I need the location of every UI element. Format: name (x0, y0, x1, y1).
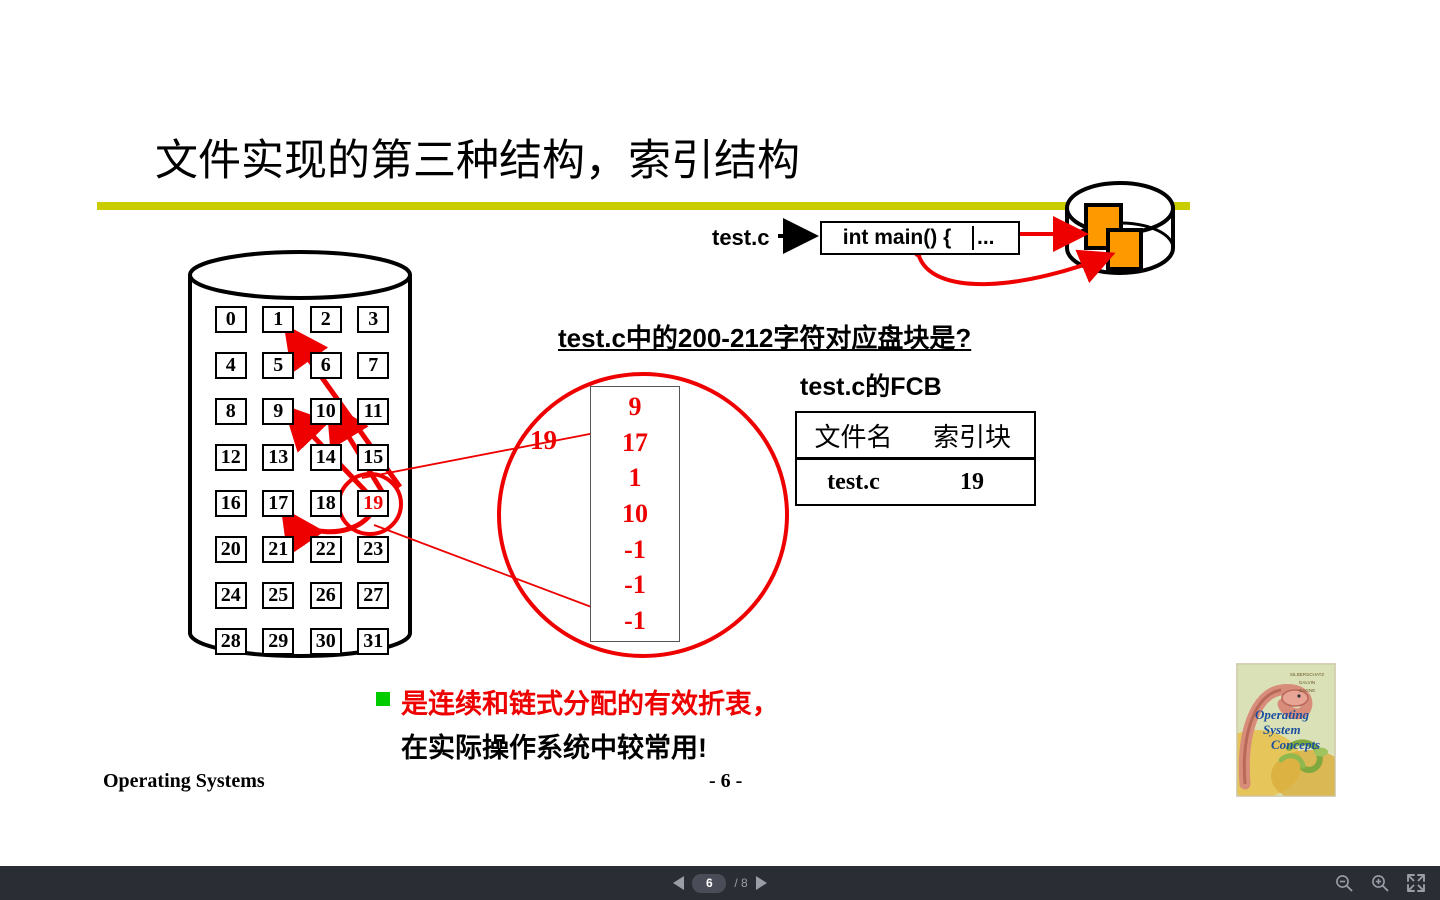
conclusion-line-2: 在实际操作系统中较常用! (401, 726, 707, 765)
footer-course-name: Operating Systems (103, 770, 265, 793)
zoom-in-icon[interactable] (1370, 873, 1390, 893)
title-divider-rule (97, 202, 1190, 210)
svg-text:GAGNE: GAGNE (1299, 688, 1316, 693)
disk-block-grid: 0 1 2 3 4 5 6 7 8 9 10 11 12 13 14 15 16… (207, 306, 397, 655)
file-code-text: int main() { (822, 226, 972, 250)
page-total-label: / 8 (734, 876, 747, 890)
disk-block[interactable]: 9 (262, 398, 294, 425)
disk-block[interactable]: 12 (215, 444, 247, 471)
file-code-ellipsis: ... (972, 226, 1018, 250)
fcb-table: 文件名 索引块 test.c 19 (795, 411, 1036, 506)
current-page-input[interactable]: 6 (692, 874, 726, 893)
next-page-icon[interactable] (756, 876, 767, 890)
disk-block[interactable]: 10 (310, 398, 342, 425)
svg-text:Concepts: Concepts (1271, 737, 1320, 752)
zoom-out-icon[interactable] (1334, 873, 1354, 893)
page-title: 文件实现的第三种结构，索引结构 (155, 126, 800, 188)
file-name-label: test.c (712, 225, 769, 251)
fcb-cell-indexblock: 19 (910, 469, 1034, 496)
index-block-table: 9 17 1 10 -1 -1 -1 (590, 386, 680, 642)
disk-block[interactable]: 22 (310, 536, 342, 563)
index-entry: 9 (629, 394, 642, 420)
disk-block[interactable]: 20 (215, 536, 247, 563)
disk-cylinder-small (1067, 183, 1173, 273)
disk-block[interactable]: 26 (310, 582, 342, 609)
svg-text:GALVIN: GALVIN (1299, 680, 1316, 685)
disk-block[interactable]: 30 (310, 628, 342, 655)
disk-block[interactable]: 2 (310, 306, 342, 333)
disk-block[interactable]: 17 (262, 490, 294, 517)
disk-block[interactable]: 5 (262, 352, 294, 379)
disk-block[interactable]: 7 (357, 352, 389, 379)
disk-block[interactable]: 25 (262, 582, 294, 609)
disk-sector-block-b (1108, 230, 1141, 269)
svg-text:Operating: Operating (1255, 707, 1310, 722)
disk-block[interactable]: 13 (262, 444, 294, 471)
disk-block[interactable]: 27 (357, 582, 389, 609)
disk-block[interactable]: 1 (262, 306, 294, 333)
disk-block[interactable]: 21 (262, 536, 294, 563)
disk-block-highlighted[interactable]: 19 (357, 490, 389, 517)
fcb-header-filename: 文件名 (797, 417, 910, 454)
index-entry: -1 (624, 608, 646, 634)
disk-block[interactable]: 8 (215, 398, 247, 425)
fcb-cell-filename: test.c (797, 469, 910, 496)
index-block-number-label: 19 (530, 425, 557, 456)
fcb-table-row: test.c 19 (797, 460, 1034, 504)
index-entry: -1 (624, 537, 646, 563)
disk-block[interactable]: 29 (262, 628, 294, 655)
slide-canvas: 文件实现的第三种结构，索引结构 (0, 0, 1440, 866)
disk-block[interactable]: 0 (215, 306, 247, 333)
book-cover-image: SILBERSCHATZ GALVIN GAGNE Operating Syst… (1236, 663, 1336, 797)
disk-block[interactable]: 18 (310, 490, 342, 517)
svg-text:SILBERSCHATZ: SILBERSCHATZ (1290, 672, 1325, 677)
disk-block[interactable]: 4 (215, 352, 247, 379)
disk-block[interactable]: 31 (357, 628, 389, 655)
disk-sector-block-a (1086, 205, 1121, 248)
bullet-square-icon (376, 692, 390, 706)
disk-block[interactable]: 16 (215, 490, 247, 517)
disk-block[interactable]: 14 (310, 444, 342, 471)
question-headline: test.c中的200-212字符对应盘块是? (558, 318, 971, 355)
disk-block[interactable]: 28 (215, 628, 247, 655)
fcb-caption: test.c的FCB (800, 367, 942, 403)
viewer-toolbar: 6 / 8 (0, 866, 1440, 900)
fcb-header-indexblock: 索引块 (910, 417, 1034, 454)
fcb-table-header-row: 文件名 索引块 (797, 413, 1034, 460)
disk-block[interactable]: 11 (357, 398, 389, 425)
previous-page-icon[interactable] (673, 876, 684, 890)
disk-block[interactable]: 6 (310, 352, 342, 379)
index-entry: 1 (629, 465, 642, 491)
footer-slide-number: - 6 - (709, 770, 742, 793)
pdf-viewer: 文件实现的第三种结构，索引结构 (0, 0, 1440, 900)
svg-text:System: System (1263, 722, 1301, 737)
conclusion-line-1: 是连续和链式分配的有效折衷， (401, 682, 779, 721)
disk-block[interactable]: 23 (357, 536, 389, 563)
book-cover-art: SILBERSCHATZ GALVIN GAGNE Operating Syst… (1237, 664, 1335, 796)
file-content-box: int main() { ... (820, 221, 1020, 255)
disk-block[interactable]: 15 (357, 444, 389, 471)
page-navigation: 6 / 8 (673, 874, 766, 893)
disk-block[interactable]: 24 (215, 582, 247, 609)
index-entry: -1 (624, 572, 646, 598)
viewer-zoom-controls (1334, 866, 1426, 900)
fit-screen-icon[interactable] (1406, 873, 1426, 893)
index-entry: 17 (622, 430, 648, 456)
disk-block[interactable]: 3 (357, 306, 389, 333)
index-entry: 10 (622, 501, 648, 527)
